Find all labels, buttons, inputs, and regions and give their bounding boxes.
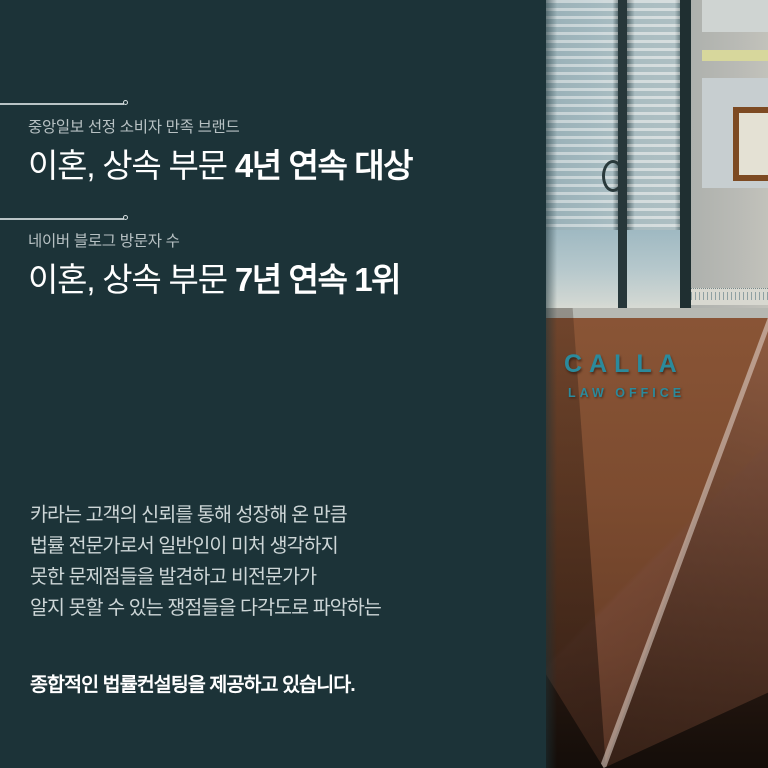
body-paragraph: 카라는 고객의 신뢰를 통해 성장해 온 만큼 법률 전문가로서 일반인이 미처…: [30, 500, 381, 624]
wall-panel-top: [702, 0, 768, 32]
award-item-2: 네이버 블로그 방문자 수 이혼, 상속 부문 7년 연속 1위: [28, 232, 400, 299]
counter-ledge-texture: [691, 292, 768, 300]
wall-shelf: [702, 50, 768, 61]
award-2-headline-regular: 이혼, 상속 부문: [28, 261, 235, 298]
rule-endpoint-dot-icon: [123, 215, 128, 220]
signage-subtitle: LAW OFFICE: [568, 387, 685, 400]
body-line: 카라는 고객의 신뢰를 통해 성장해 온 만큼: [30, 500, 381, 531]
award-2-headline: 이혼, 상속 부문 7년 연속 1위: [28, 261, 400, 299]
body-line: 알지 못할 수 있는 쟁점들을 다각도로 파악하는: [30, 593, 381, 624]
body-line: 법률 전문가로서 일반인이 미처 생각하지: [30, 531, 381, 562]
framed-artwork: [733, 107, 768, 181]
divider-rule-first: [0, 103, 124, 105]
award-2-eyebrow: 네이버 블로그 방문자 수: [28, 232, 400, 252]
award-1-headline-regular: 이혼, 상속 부문: [28, 147, 235, 184]
closing-statement: 종합적인 법률컨설팅을 제공하고 있습니다.: [30, 668, 355, 697]
calla-signage: CALLA LAW OFFICE: [564, 352, 685, 400]
award-1-headline: 이혼, 상속 부문 4년 연속 대상: [28, 147, 412, 185]
award-2-headline-emphasis: 7년 연속 1위: [235, 261, 400, 298]
divider-rule-second: [0, 218, 124, 220]
office-photo: CALLA LAW OFFICE: [546, 0, 768, 768]
door-mullion-right: [680, 0, 691, 318]
rule-endpoint-dot-icon: [123, 100, 128, 105]
body-line: 못한 문제점들을 발견하고 비전문가가: [30, 562, 381, 593]
signage-brand-name: CALLA: [564, 352, 685, 377]
door-mullion-left: [618, 0, 627, 318]
promo-card: CALLA LAW OFFICE 중앙일보 선정 소비자 만족 브랜드 이혼, …: [0, 0, 768, 768]
award-1-eyebrow: 중앙일보 선정 소비자 만족 브랜드: [28, 118, 412, 138]
award-item-1: 중앙일보 선정 소비자 만족 브랜드 이혼, 상속 부문 4년 연속 대상: [28, 118, 412, 185]
reception-desk: CALLA LAW OFFICE: [546, 308, 768, 768]
award-1-headline-emphasis: 4년 연속 대상: [235, 147, 412, 184]
text-panel: 중앙일보 선정 소비자 만족 브랜드 이혼, 상속 부문 4년 연속 대상 네이…: [0, 0, 546, 768]
office-interior-scene: [546, 0, 768, 318]
